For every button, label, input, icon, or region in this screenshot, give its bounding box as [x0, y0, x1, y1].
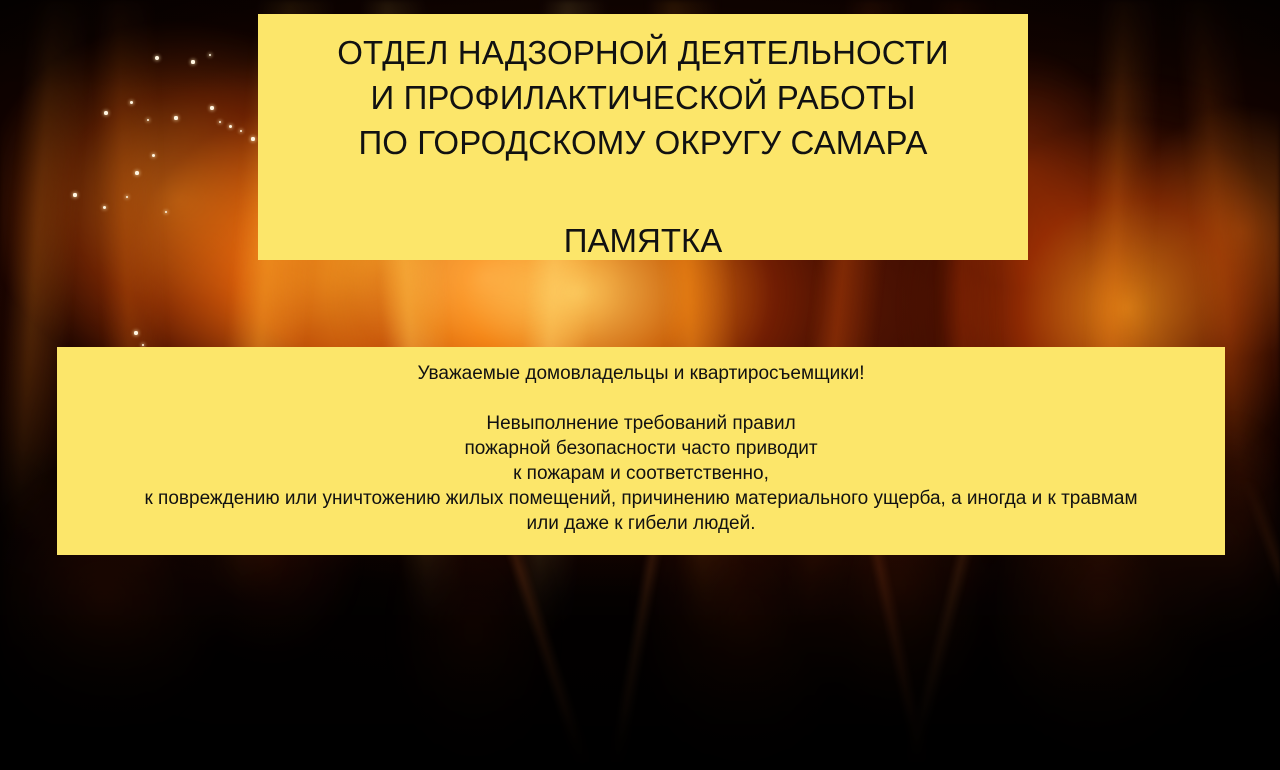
- spark-particle: [103, 206, 106, 209]
- body-panel: Уважаемые домовладельцы и квартиросъемщи…: [57, 347, 1225, 555]
- spark-particle: [147, 119, 150, 122]
- spark-particle: [155, 56, 159, 60]
- spark-particle: [104, 111, 108, 115]
- department-title-line-1: ОТДЕЛ НАДЗОРНОЙ ДЕЯТЕЛЬНОСТИ: [268, 30, 1018, 75]
- spark-particle: [135, 171, 139, 175]
- spark-particle: [240, 130, 243, 133]
- warning-line-2: пожарной безопасности часто приводит: [63, 436, 1219, 461]
- fire-safety-poster: ОТДЕЛ НАДЗОРНОЙ ДЕЯТЕЛЬНОСТИ И ПРОФИЛАКТ…: [0, 0, 1280, 770]
- spark-particle: [229, 125, 232, 128]
- paragraph-spacer: [63, 386, 1219, 411]
- spark-particle: [126, 196, 129, 199]
- spark-particle: [209, 54, 212, 57]
- salutation-line: Уважаемые домовладельцы и квартиросъемщи…: [63, 361, 1219, 386]
- document-type-label: ПАМЯТКА: [268, 218, 1018, 263]
- spark-particle: [251, 137, 254, 140]
- spark-particle: [210, 106, 213, 109]
- spark-particle: [130, 101, 133, 104]
- warning-line-5: или даже к гибели людей.: [63, 511, 1219, 536]
- department-title-line-3: ПО ГОРОДСКОМУ ОКРУГУ САМАРА: [268, 120, 1018, 165]
- spark-particle: [165, 211, 168, 214]
- spark-particle: [134, 331, 137, 334]
- header-panel: ОТДЕЛ НАДЗОРНОЙ ДЕЯТЕЛЬНОСТИ И ПРОФИЛАКТ…: [258, 14, 1028, 260]
- warning-line-1: Невыполнение требований правил: [63, 411, 1219, 436]
- spark-particle: [174, 116, 177, 119]
- spark-particle: [152, 154, 155, 157]
- spark-particle: [191, 60, 194, 63]
- spark-particle: [73, 193, 76, 196]
- spark-particle: [219, 121, 222, 124]
- warning-line-3: к пожарам и соответственно,: [63, 461, 1219, 486]
- spark-particle: [142, 344, 145, 347]
- department-title-line-2: И ПРОФИЛАКТИЧЕСКОЙ РАБОТЫ: [268, 75, 1018, 120]
- warning-line-4: к повреждению или уничтожению жилых поме…: [63, 486, 1219, 511]
